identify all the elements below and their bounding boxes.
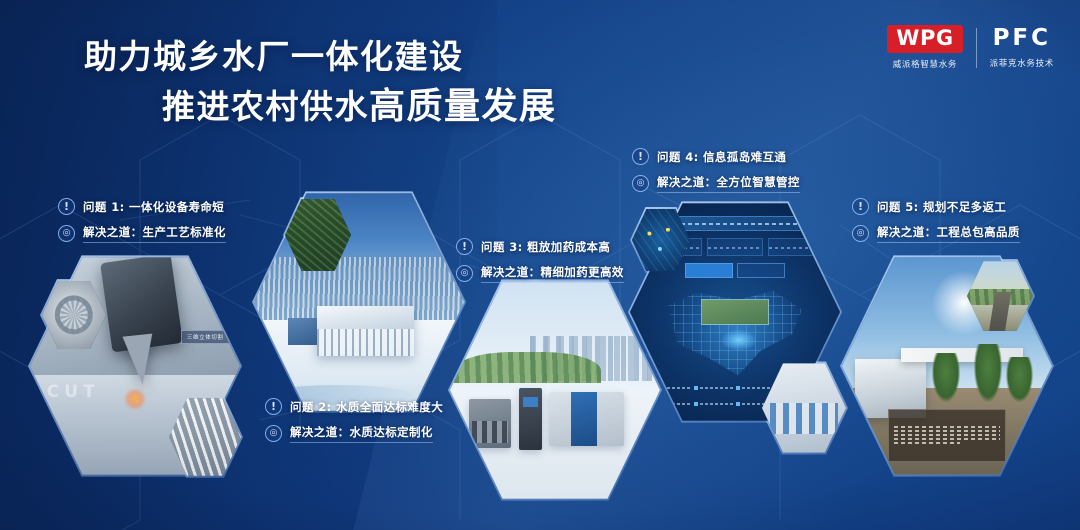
callout-4-solution-row: ◎ 解决之道：全方位智慧管控 (632, 174, 800, 193)
pfc-logo: PFC 派菲克水务技术 (990, 26, 1054, 68)
map-photo-popup (701, 299, 768, 326)
legend-swatch (694, 402, 698, 406)
target-icon: ◎ (58, 225, 75, 242)
tree-line (454, 352, 601, 383)
callout-1-solution-text: 解决之道：生产工艺标准化 (83, 224, 226, 243)
callout-5-problem-text: 问题 5: 规划不足多返工 (877, 199, 1006, 215)
render-entrance-canopy (901, 348, 1023, 361)
callout-3-solution-row: ◎ 解决之道：精细加药更高效 (456, 264, 624, 283)
wpg-wordmark: WPG (887, 25, 962, 53)
legend-label (700, 387, 735, 389)
legend-swatch (694, 386, 698, 390)
exclamation-icon: ! (632, 148, 649, 165)
exclamation-icon: ! (265, 398, 282, 415)
callout-problem-1: ! 问题 1: 一体化设备寿命短 ◎ 解决之道：生产工艺标准化 (58, 198, 226, 252)
render-tree (974, 344, 1001, 402)
render-tree (1006, 357, 1033, 402)
target-icon: ◎ (632, 175, 649, 192)
callout-problem-4: ! 问题 4: 信息孤岛难互通 ◎ 解决之道：全方位智慧管控 (632, 148, 800, 202)
exclamation-icon: ! (456, 238, 473, 255)
annotation-line (894, 442, 959, 444)
callout-5-problem-row: ! 问题 5: 规划不足多返工 (852, 198, 1020, 215)
callout-4-solution-text: 解决之道：全方位智慧管控 (657, 174, 800, 193)
title-line-2-normal: 推进农村供水 (162, 87, 369, 126)
target-icon: ◎ (852, 225, 869, 242)
annotation-line (894, 438, 1000, 440)
dosing-tower-unit (519, 388, 542, 451)
callout-5-solution-row: ◎ 解决之道：工程总包高品质 (852, 224, 1020, 243)
callout-problem-2: ! 问题 2: 水质全面达标难度大 ◎ 解决之道：水质达标定制化 (265, 398, 443, 452)
dosing-control-cabinet (469, 399, 511, 448)
callout-1-solution-row: ◎ 解决之道：生产工艺标准化 (58, 224, 226, 243)
panel-1-caption: 三维立体切割 (181, 330, 230, 344)
exclamation-icon: ! (852, 198, 869, 215)
wpg-subtitle: 威派格智慧水务 (893, 58, 957, 70)
annotation-line (894, 426, 1000, 428)
laser-nozzle (122, 333, 157, 386)
title-line-2: 推进农村供水高质量发展 (162, 84, 557, 130)
callout-2-problem-text: 问题 2: 水质全面达标难度大 (290, 399, 443, 415)
render-annotation-box (888, 409, 1006, 463)
pfc-subtitle: 派菲克水务技术 (990, 57, 1054, 69)
annotation-line (894, 434, 1000, 436)
plant-building (317, 306, 414, 355)
callout-problem-3: ! 问题 3: 粗放加药成本高 ◎ 解决之道：精细加药更高效 (456, 238, 624, 292)
wpg-logo: WPG 威派格智慧水务 (887, 25, 962, 70)
callout-2-problem-row: ! 问题 2: 水质全面达标难度大 (265, 398, 443, 415)
monitor-nodes (632, 208, 690, 272)
callout-1-problem-row: ! 问题 1: 一体化设备寿命短 (58, 198, 226, 215)
callout-2-solution-text: 解决之道：水质达标定制化 (290, 424, 433, 443)
legend-label (700, 403, 735, 405)
dashboard-stat-card (707, 238, 762, 256)
dashboard-tab (737, 263, 785, 279)
map-highlight-node (722, 330, 756, 350)
brand-logo-lockup: WPG 威派格智慧水务 PFC 派菲克水务技术 (887, 25, 1054, 70)
inset-4a-image (632, 208, 690, 272)
auxiliary-shed (288, 318, 317, 345)
legend-item (694, 381, 735, 395)
callout-4-problem-row: ! 问题 4: 信息孤岛难互通 (632, 148, 800, 165)
dashboard-tab-group (685, 263, 786, 279)
pfc-wordmark: PFC (993, 26, 1051, 51)
legend-swatch (736, 386, 740, 390)
target-icon: ◎ (265, 425, 282, 442)
annotation-line (894, 430, 1000, 432)
title-line-1: 助力城乡水厂一体化建设 (84, 36, 557, 78)
callout-1-problem-text: 问题 1: 一体化设备寿命短 (83, 199, 224, 215)
callout-2-solution-row: ◎ 解决之道：水质达标定制化 (265, 424, 443, 443)
integrated-water-unit (549, 392, 625, 446)
callout-4-problem-text: 问题 4: 信息孤岛难互通 (657, 149, 786, 165)
legend-item (694, 397, 735, 411)
callout-3-problem-row: ! 问题 3: 粗放加药成本高 (456, 238, 624, 255)
logo-divider (976, 28, 977, 68)
exclamation-icon: ! (58, 198, 75, 215)
callout-3-problem-text: 问题 3: 粗放加药成本高 (481, 239, 610, 255)
target-icon: ◎ (456, 265, 473, 282)
poster-title: 助力城乡水厂一体化建设 推进农村供水高质量发展 (84, 36, 557, 130)
callout-3-solution-text: 解决之道：精细加药更高效 (481, 264, 624, 283)
title-line-2-emphasis: 高质量发展 (369, 86, 557, 127)
control-room-racks (770, 403, 837, 434)
legend-swatch (736, 402, 740, 406)
dashboard-tab-active (685, 263, 733, 279)
callout-5-solution-text: 解决之道：工程总包高品质 (877, 224, 1020, 243)
callout-problem-5: ! 问题 5: 规划不足多返工 ◎ 解决之道：工程总包高品质 (852, 198, 1020, 252)
render-tree (932, 353, 959, 402)
